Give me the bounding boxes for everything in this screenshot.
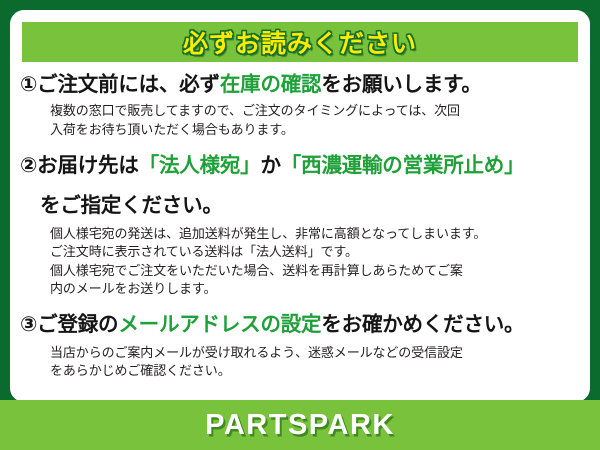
notice-item-1: ①ご注文前には、必ず在庫の確認をお願いします。 複数の窓口で販売してますので、ご… [10, 68, 590, 139]
notice-item-1-heading-seg-2: をお願いします。 [321, 73, 481, 96]
notice-item-2-body-line-3: 内のメールをお送りします。 [50, 280, 578, 298]
notice-item-3: ③ご登録のメールアドレスの設定をお確かめください。 当店からのご案内メールが受け… [10, 298, 590, 380]
notice-item-3-heading-seg-2: をお確かめください。 [321, 313, 524, 336]
notice-item-1-body-line-1: 入荷をお待ち頂いただく場合もあります。 [50, 121, 578, 139]
notice-item-2-heading-line-2: をご指定ください。 [10, 179, 590, 219]
notice-item-2-body: 個人様宅宛の発送は、追加送料が発生し、非常に高額となってしまいます。 ご注文時に… [10, 220, 590, 299]
notice-card: 必ずお読みください ①ご注文前には、必ず在庫の確認をお願いします。 複数の窓口で… [10, 10, 590, 402]
notice-item-2-body-line-1: ご注文時に表示されている送料は「法人送料」です。 [50, 243, 578, 261]
notice-item-3-body-line-1: をあらかじめご確認ください。 [50, 362, 578, 380]
notice-title: 必ずお読みください [183, 24, 417, 60]
notice-item-2-body-line-0: 個人様宅宛の発送は、追加送料が発生し、非常に高額となってしまいます。 [50, 225, 578, 243]
notice-item-2-heading-seg-1: 「法人様宛」 [139, 154, 261, 177]
notice-item-3-heading-seg-1: メールアドレスの設定 [118, 313, 321, 336]
notice-item-3-heading: ③ご登録のメールアドレスの設定をお確かめください。 [10, 298, 590, 338]
notice-item-2-heading: ②お届け先は「法人様宛」か「西濃運輸の営業所止め」 [10, 139, 590, 179]
notice-item-1-body-line-0: 複数の窓口で販売してますので、ご注文のタイミングによっては、次回 [50, 102, 578, 120]
notice-item-1-heading-seg-1: 在庫の確認 [220, 73, 322, 96]
brand-footer: PARTSPARK [0, 400, 600, 450]
notice-items-list: ①ご注文前には、必ず在庫の確認をお願いします。 複数の窓口で販売してますので、ご… [10, 68, 590, 381]
notice-item-1-body: 複数の窓口で販売してますので、ご注文のタイミングによっては、次回 入荷をお待ち頂… [10, 98, 590, 139]
notice-item-1-heading-seg-0: ①ご注文前には、必ず [20, 73, 220, 96]
notice-item-3-body: 当店からのご案内メールが受け取れるよう、迷惑メールなどの受信設定 をあらかじめご… [10, 339, 590, 381]
notice-item-2-body-line-2: 個人様宅宛でご注文をいただいた場合、送料を再計算しあらためてご案 [50, 262, 578, 280]
notice-item-2-heading-seg-3: 「西濃運輸の営業所止め」 [281, 154, 525, 177]
notice-item-2-heading-seg-0: ②お届け先は [20, 154, 139, 177]
notice-item-2-heading-seg-2: か [260, 154, 280, 177]
notice-item-1-heading: ①ご注文前には、必ず在庫の確認をお願いします。 [10, 68, 590, 98]
notice-item-3-heading-seg-0: ③ご登録の [20, 313, 118, 336]
notice-title-bar: 必ずお読みください [22, 22, 578, 62]
notice-item-3-body-line-0: 当店からのご案内メールが受け取れるよう、迷惑メールなどの受信設定 [50, 344, 578, 362]
brand-name: PARTSPARK [205, 409, 395, 442]
notice-item-2: ②お届け先は「法人様宛」か「西濃運輸の営業所止め」 をご指定ください。 個人様宅… [10, 139, 590, 298]
